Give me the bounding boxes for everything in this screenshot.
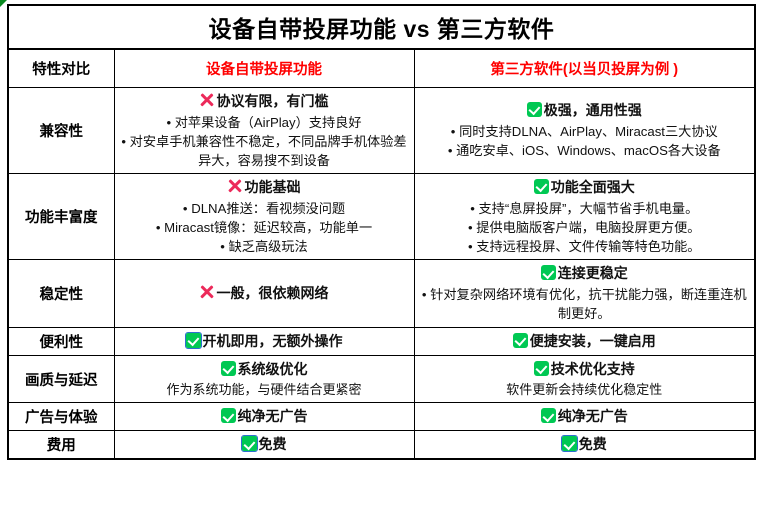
cell-note: 作为系统功能，与硬件结合更紧密 [119,381,410,400]
cell-lead: 协议有限，有门槛 [119,91,410,112]
check-icon [541,408,556,423]
check-icon [527,102,542,117]
column-header-native: 设备自带投屏功能 [114,49,414,87]
column-header-third-party: 第三方软件(以当贝投屏为例 ) [414,49,755,87]
cell-lead: 极强，通用性强 [419,100,751,121]
table-row: 画质与延迟系统级优化作为系统功能，与硬件结合更紧密技术优化支持软件更新会持续优化… [8,355,755,403]
cell-bullet-list: 针对复杂网络环境有优化，抗干扰能力强，断连重连机制更好。 [419,285,751,323]
cell-lead-text: 纯净无广告 [238,408,308,424]
cell-lead: 开机即用，无额外操作 [119,331,410,352]
cell-lead: 免费 [419,434,751,455]
cell-bullet-list: 支持“息屏投屏”，大幅节省手机电量。提供电脑版客户端，电脑投屏更方便。支持远程投… [419,199,751,256]
cell-third-party: 连接更稳定针对复杂网络环境有优化，抗干扰能力强，断连重连机制更好。 [414,260,755,327]
check-icon [562,436,577,451]
cell-third-party: 便捷安装，一键启用 [414,327,755,355]
cell-lead: 系统级优化 [119,359,410,380]
cell-lead: 便捷安装，一键启用 [419,331,751,352]
check-icon [541,265,556,280]
table-row: 功能丰富度功能基础DLNA推送：看视频没问题Miracast镜像：延迟较高，功能… [8,173,755,259]
table-row: 稳定性一般，很依赖网络连接更稳定针对复杂网络环境有优化，抗干扰能力强，断连重连机… [8,260,755,327]
cell-lead-text: 系统级优化 [238,361,308,377]
cell-native: 免费 [114,431,414,460]
check-icon [534,179,549,194]
cell-native: 纯净无广告 [114,403,414,431]
table-row: 便利性开机即用，无额外操作便捷安装，一键启用 [8,327,755,355]
table-row: 广告与体验纯净无广告纯净无广告 [8,403,755,431]
x-icon [228,179,243,194]
cell-lead: 纯净无广告 [419,406,751,427]
comparison-sheet: 设备自带投屏功能 vs 第三方软件 特性对比 设备自带投屏功能 第三方软件(以当… [7,4,756,524]
cell-lead-text: 技术优化支持 [551,361,635,377]
cell-lead: 一般，很依赖网络 [119,283,410,304]
cell-lead: 纯净无广告 [119,406,410,427]
x-icon [200,285,215,300]
cell-lead-text: 连接更稳定 [558,265,628,281]
list-item: 缺乏高级玩法 [119,237,410,256]
column-header-feature: 特性对比 [8,49,114,87]
check-icon [221,361,236,376]
check-icon [242,436,257,451]
cell-lead-text: 免费 [579,436,607,452]
cell-lead-text: 一般，很依赖网络 [217,285,329,301]
cell-third-party: 功能全面强大支持“息屏投屏”，大幅节省手机电量。提供电脑版客户端，电脑投屏更方便… [414,173,755,259]
comparison-table: 设备自带投屏功能 vs 第三方软件 特性对比 设备自带投屏功能 第三方软件(以当… [7,4,756,460]
list-item: 通吃安卓、iOS、Windows、macOS各大设备 [419,141,751,160]
cell-lead-text: 极强，通用性强 [544,102,642,118]
check-icon [513,333,528,348]
list-item: Miracast镜像：延迟较高，功能单一 [119,218,410,237]
sheet-corner-marker [0,0,7,7]
cell-native: 功能基础DLNA推送：看视频没问题Miracast镜像：延迟较高，功能单一缺乏高… [114,173,414,259]
cell-native: 协议有限，有门槛对苹果设备（AirPlay）支持良好对安卓手机兼容性不稳定，不同… [114,87,414,173]
cell-third-party: 技术优化支持软件更新会持续优化稳定性 [414,355,755,403]
feature-label: 画质与延迟 [8,355,114,403]
cell-native: 系统级优化作为系统功能，与硬件结合更紧密 [114,355,414,403]
cell-lead-text: 功能全面强大 [551,179,635,195]
table-row: 费用免费免费 [8,431,755,460]
cell-third-party: 极强，通用性强同时支持DLNA、AirPlay、Miracast三大协议通吃安卓… [414,87,755,173]
table-title-row: 设备自带投屏功能 vs 第三方软件 [8,5,755,49]
cell-third-party: 纯净无广告 [414,403,755,431]
feature-label: 兼容性 [8,87,114,173]
check-icon [221,408,236,423]
cell-lead-text: 协议有限，有门槛 [217,93,329,109]
cell-note: 软件更新会持续优化稳定性 [419,381,751,400]
feature-label: 费用 [8,431,114,460]
cell-lead-text: 便捷安装，一键启用 [530,333,656,349]
cell-lead: 免费 [119,434,410,455]
list-item: 支持远程投屏、文件传输等特色功能。 [419,237,751,256]
cell-native: 开机即用，无额外操作 [114,327,414,355]
table-header-row: 特性对比 设备自带投屏功能 第三方软件(以当贝投屏为例 ) [8,49,755,87]
list-item: 提供电脑版客户端，电脑投屏更方便。 [419,218,751,237]
check-icon [186,333,201,348]
list-item: 对安卓手机兼容性不稳定，不同品牌手机体验差异大，容易搜不到设备 [119,132,410,170]
cell-lead-text: 纯净无广告 [558,408,628,424]
list-item: 针对复杂网络环境有优化，抗干扰能力强，断连重连机制更好。 [419,285,751,323]
list-item: 同时支持DLNA、AirPlay、Miracast三大协议 [419,122,751,141]
cell-lead-text: 开机即用，无额外操作 [203,333,343,349]
cell-third-party: 免费 [414,431,755,460]
feature-label: 功能丰富度 [8,173,114,259]
cell-lead: 连接更稳定 [419,263,751,284]
list-item: 支持“息屏投屏”，大幅节省手机电量。 [419,199,751,218]
cell-lead-text: 免费 [259,436,287,452]
list-item: DLNA推送：看视频没问题 [119,199,410,218]
x-icon [200,93,215,108]
feature-label: 广告与体验 [8,403,114,431]
cell-bullet-list: 同时支持DLNA、AirPlay、Miracast三大协议通吃安卓、iOS、Wi… [419,122,751,160]
check-icon [534,361,549,376]
cell-lead-text: 功能基础 [245,179,301,195]
cell-native: 一般，很依赖网络 [114,260,414,327]
cell-lead: 功能基础 [119,177,410,198]
table-row: 兼容性协议有限，有门槛对苹果设备（AirPlay）支持良好对安卓手机兼容性不稳定… [8,87,755,173]
list-item: 对苹果设备（AirPlay）支持良好 [119,113,410,132]
cell-lead: 技术优化支持 [419,359,751,380]
feature-label: 稳定性 [8,260,114,327]
page-title: 设备自带投屏功能 vs 第三方软件 [8,5,755,49]
cell-bullet-list: 对苹果设备（AirPlay）支持良好对安卓手机兼容性不稳定，不同品牌手机体验差异… [119,113,410,170]
cell-bullet-list: DLNA推送：看视频没问题Miracast镜像：延迟较高，功能单一缺乏高级玩法 [119,199,410,256]
cell-lead: 功能全面强大 [419,177,751,198]
feature-label: 便利性 [8,327,114,355]
